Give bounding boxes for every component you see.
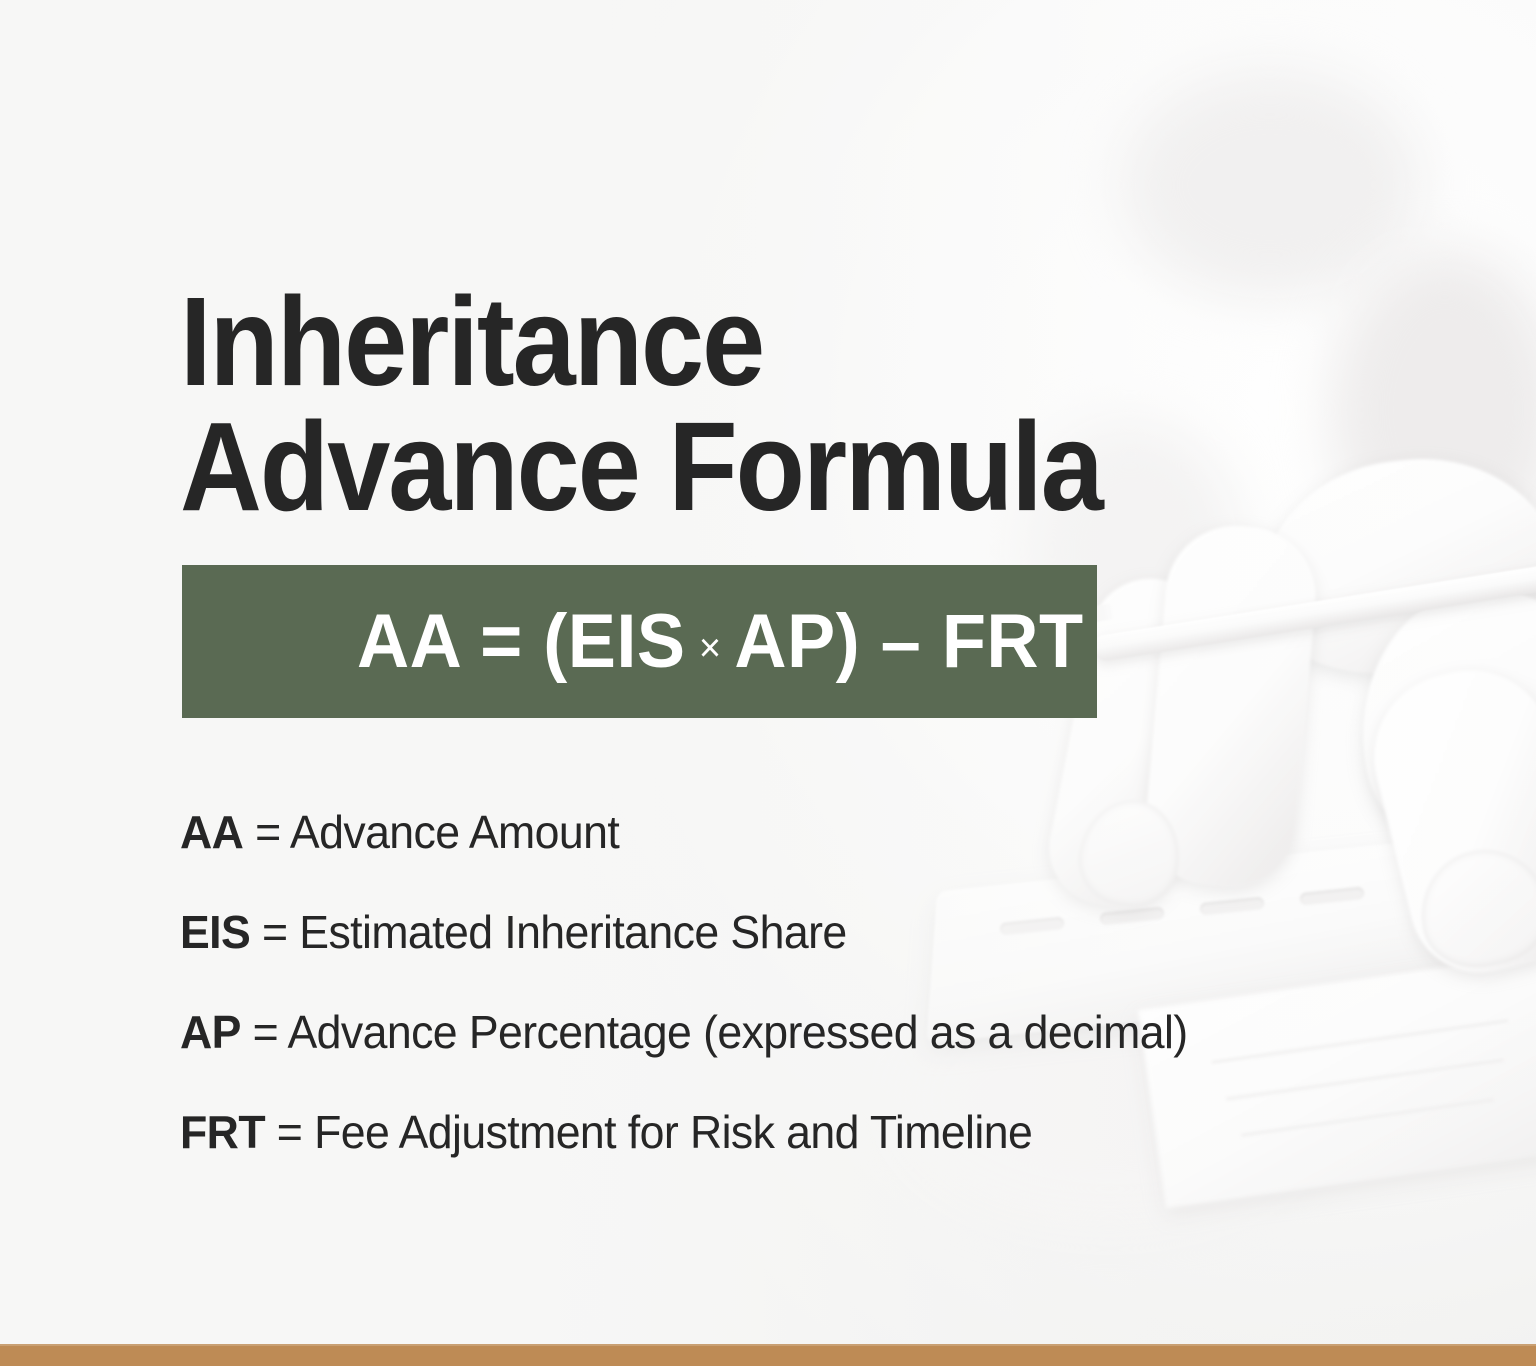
legend-definition: = Advance Percentage (expressed as a dec… — [241, 1006, 1188, 1058]
footer-accent-bar — [0, 1344, 1536, 1366]
legend-abbr: AP — [180, 1006, 241, 1058]
legend-abbr: EIS — [180, 906, 250, 958]
legend-abbr: FRT — [180, 1106, 265, 1158]
multiplication-sign: × — [686, 626, 735, 670]
legend-list: AA = Advance Amount EIS = Estimated Inhe… — [180, 806, 1400, 1206]
formula-banner: AA = (EIS×AP) – FRT — [182, 565, 1097, 718]
legend-item-frt: FRT = Fee Adjustment for Risk and Timeli… — [180, 1106, 1363, 1206]
legend-item-aa: AA = Advance Amount — [180, 806, 1363, 906]
formula-expression: AA = (EIS×AP) – FRT — [195, 528, 1083, 756]
formula-left: AA = (EIS — [357, 599, 686, 684]
legend-item-ap: AP = Advance Percentage (expressed as a … — [180, 1006, 1363, 1106]
page-title: Inheritance Advance Formula — [180, 280, 1134, 529]
footer-accent-highlight — [0, 1344, 1536, 1346]
infographic-canvas: Inheritance Advance Formula AA = (EIS×AP… — [0, 0, 1536, 1366]
legend-definition: = Estimated Inheritance Share — [250, 906, 846, 958]
content-layer: Inheritance Advance Formula AA = (EIS×AP… — [0, 0, 1536, 1366]
legend-item-eis: EIS = Estimated Inheritance Share — [180, 906, 1363, 1006]
legend-definition: = Fee Adjustment for Risk and Timeline — [265, 1106, 1032, 1158]
legend-definition: = Advance Amount — [243, 806, 619, 858]
formula-right: AP) – FRT — [734, 599, 1083, 684]
legend-abbr: AA — [180, 806, 243, 858]
